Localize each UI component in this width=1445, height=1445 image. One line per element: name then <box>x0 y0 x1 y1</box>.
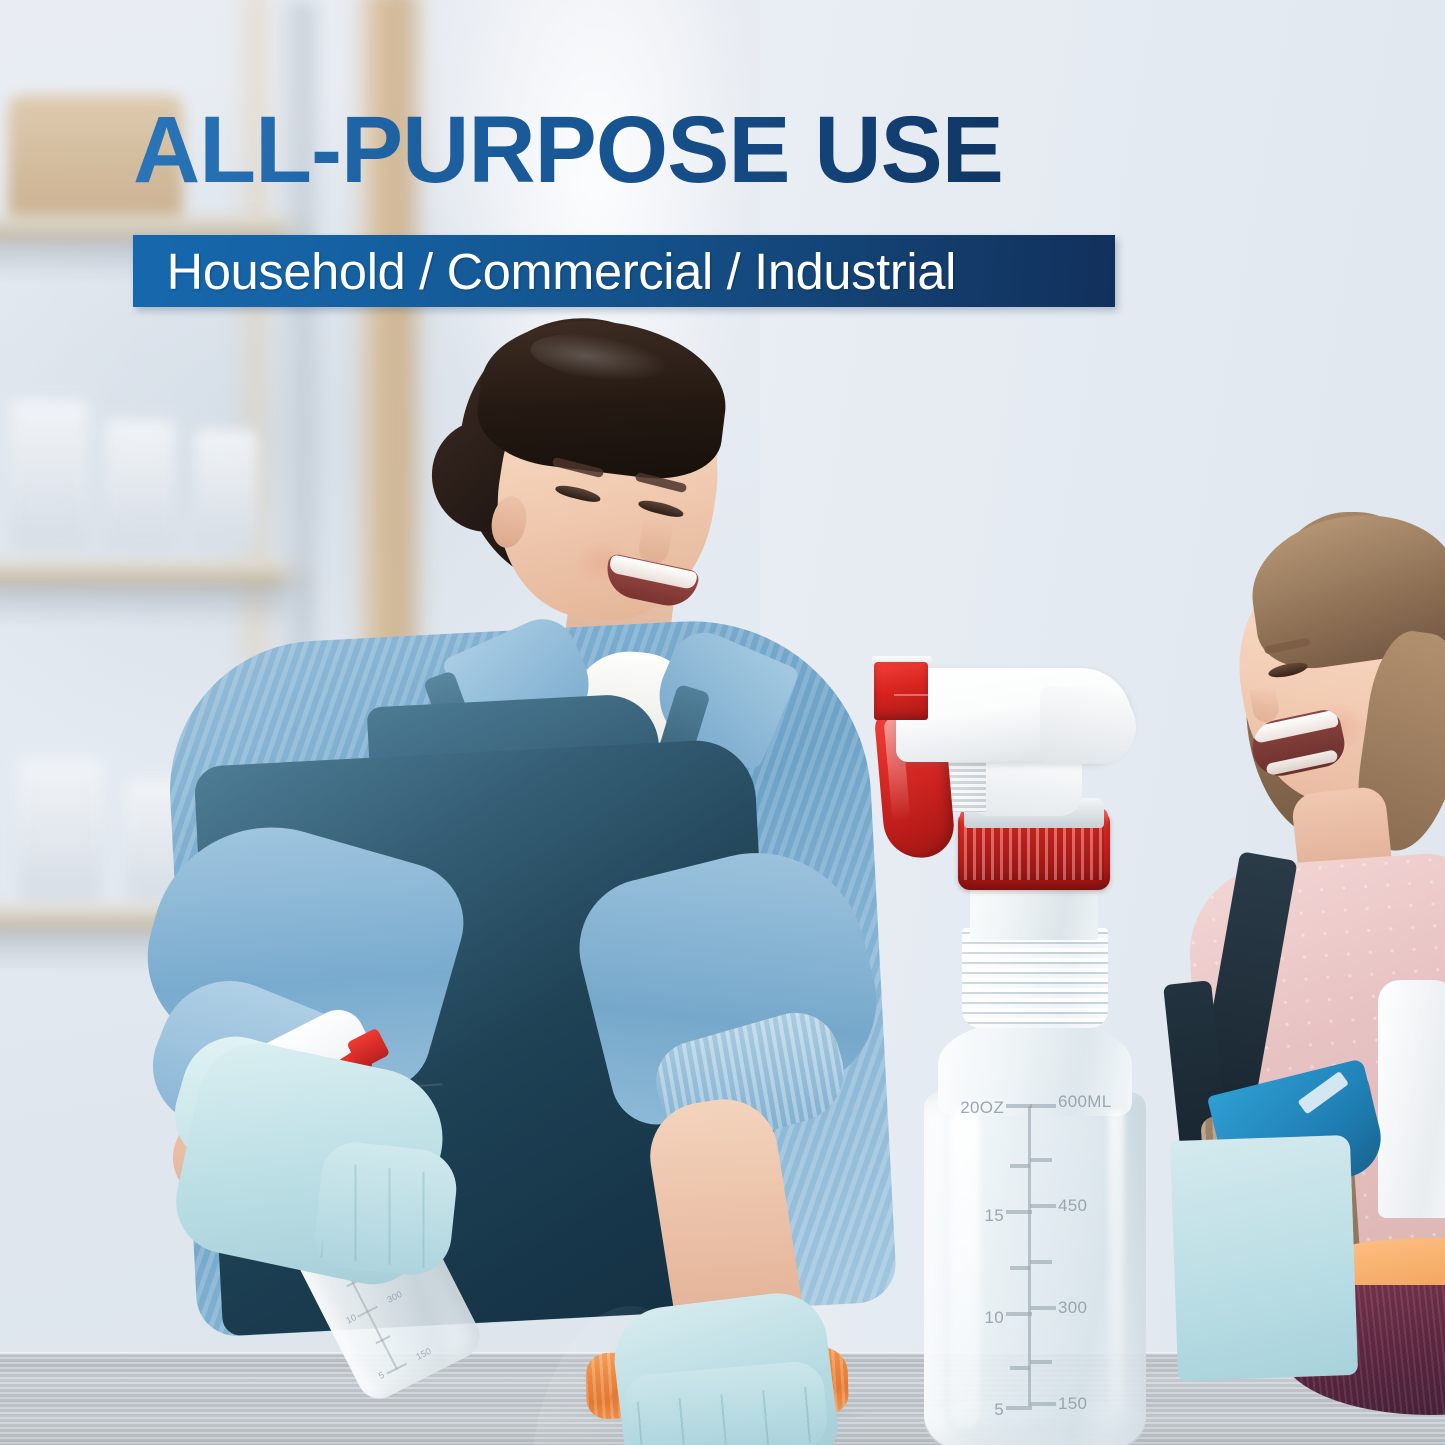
scale-tick-minor <box>1030 1260 1052 1264</box>
scale-tick-minor <box>1010 1266 1030 1270</box>
scale-label-oz: 5 <box>994 1400 1004 1420</box>
scale-label-ml: 450 <box>1058 1196 1087 1216</box>
product-marketing-image: 20OZ 600ML 15 450 10 300 5 150 <box>0 0 1445 1445</box>
scale-tick-major <box>1030 1204 1056 1208</box>
scale-tick-major <box>1006 1104 1032 1108</box>
scale-label-ml: 300 <box>1058 1298 1087 1318</box>
left-glove-fingers <box>312 1139 460 1279</box>
white-bottle <box>1378 980 1445 1218</box>
blue-cloth <box>1170 1135 1358 1381</box>
cleaning-supplies <box>1180 1080 1445 1410</box>
scale-label-ml: 150 <box>1058 1394 1087 1414</box>
scale-label-oz: 20OZ <box>960 1098 1004 1118</box>
woman-hands <box>60 300 920 1400</box>
scale-tick-major <box>1030 1402 1056 1406</box>
scale-tick-major <box>1030 1104 1056 1108</box>
scale-tick-minor <box>1010 1366 1030 1370</box>
subtitle-text: Household / Commercial / Industrial <box>133 242 956 301</box>
scale-label-oz: 10 <box>984 1308 1004 1328</box>
scale-label-oz: 15 <box>984 1206 1004 1226</box>
scale-tick-major <box>1030 1306 1056 1310</box>
scale-tick-major <box>1006 1210 1032 1214</box>
scale-tick-minor <box>1010 1164 1030 1168</box>
scale-tick-major <box>1006 1312 1032 1316</box>
scale-tick-minor <box>1030 1158 1052 1162</box>
squeegee-highlight <box>1298 1071 1349 1115</box>
scale-label-ml: 600ML <box>1058 1092 1111 1112</box>
scale-tick-major <box>1006 1406 1032 1410</box>
page-title: ALL-PURPOSE USE <box>133 98 1123 203</box>
scale-tick-minor <box>1030 1360 1052 1364</box>
subtitle-banner: Household / Commercial / Industrial <box>133 235 1115 307</box>
